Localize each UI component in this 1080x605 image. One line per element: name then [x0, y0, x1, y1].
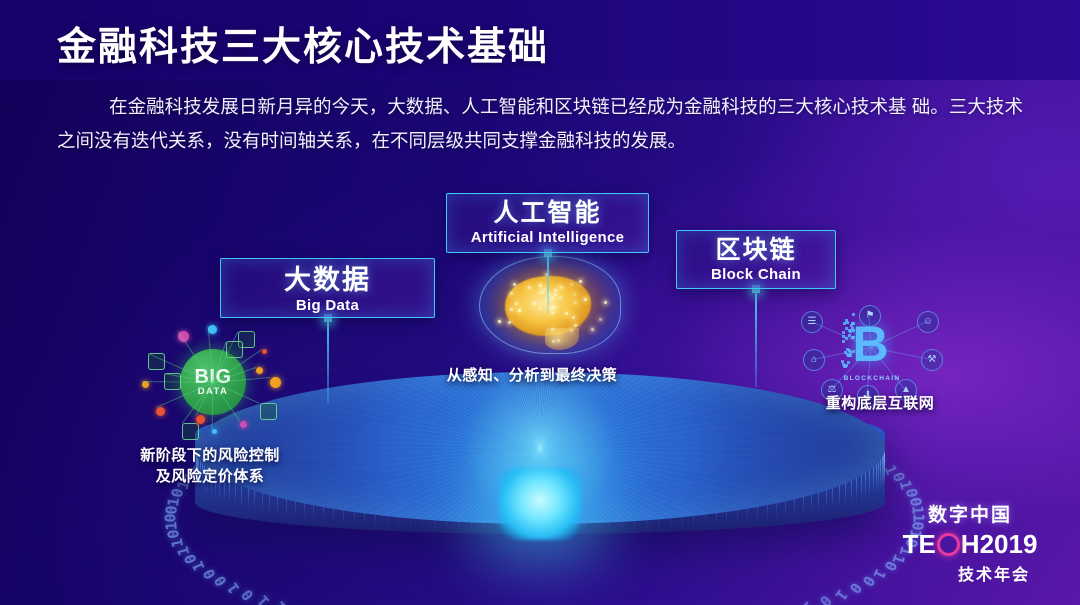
brain-synapse — [573, 293, 576, 296]
brain-synapse — [518, 309, 521, 312]
brain-synapse — [551, 311, 554, 314]
brain-synapse — [599, 318, 602, 321]
caption-ai: 从感知、分析到最终决策 — [427, 365, 637, 386]
blockchain-pixel — [846, 353, 849, 356]
card-ai[interactable]: 人工智能 Artificial Intelligence — [446, 193, 649, 253]
brain-synapse — [574, 324, 577, 327]
binary-digit: 0 — [238, 586, 258, 604]
blockchain-pixel — [845, 337, 848, 340]
bigdata-node-dot — [256, 367, 263, 374]
binary-digit: 0 — [845, 579, 865, 597]
brain-synapse — [559, 296, 562, 299]
blockchain-pixel — [846, 321, 849, 324]
blockchain-pixel — [842, 340, 845, 343]
blockchain-node-icon: ☺ — [917, 311, 939, 333]
brain-synapse — [604, 301, 607, 304]
blockchain-pixel — [841, 360, 844, 363]
footer-logo: 数字中国 TEH2019 技术年会 — [890, 500, 1050, 585]
brain-synapse — [570, 283, 573, 286]
binary-digit: 0 — [816, 592, 835, 605]
card-ai-title-en: Artificial Intelligence — [447, 229, 648, 246]
card-bigdata[interactable]: 大数据 Big Data — [220, 258, 435, 318]
platform-rib — [884, 452, 885, 482]
brain-synapse — [543, 288, 546, 291]
caption-blockchain: 重构底层互联网 — [790, 393, 970, 414]
binary-digit: 0 — [164, 529, 183, 540]
blockchain-pixel — [848, 329, 851, 332]
bigdata-node-icon — [182, 423, 199, 440]
bigdata-node-dot — [196, 415, 205, 424]
paragraph-line-1: 在金融科技发展日新月异的今天，大数据、人工智能和区块链已经成为金融科技的三大核心… — [109, 96, 907, 117]
caption-bigdata-line1: 新阶段下的风险控制 — [100, 445, 320, 466]
binary-digit: 1 — [870, 566, 890, 582]
card-blockchain-title-cn: 区块链 — [677, 237, 835, 263]
card-ai-title-cn: 人工智能 — [447, 200, 648, 226]
card-blockchain[interactable]: 区块链 Block Chain — [676, 230, 836, 289]
bigdata-node-dot — [208, 325, 217, 334]
blockchain-pixel — [845, 327, 848, 330]
footer-logo-left: TE — [903, 529, 936, 559]
caption-blockchain-line1: 重构底层互联网 — [790, 393, 970, 414]
platform-core-glow — [499, 468, 581, 540]
blockchain-pixel — [846, 348, 849, 351]
binary-digit: 0 — [162, 505, 181, 515]
caption-bigdata-line2: 及风险定价体系 — [100, 466, 320, 487]
blockchain-pixel — [852, 350, 855, 353]
binary-digit: 1 — [831, 586, 851, 604]
connector-blockchain — [755, 289, 757, 387]
binary-digit: 1 — [224, 579, 244, 597]
binary-digit: 1 — [173, 544, 193, 557]
connector-bigdata — [327, 318, 329, 404]
binary-digit: 0 — [162, 513, 180, 522]
caption-ai-line1: 从感知、分析到最终决策 — [427, 365, 637, 386]
binary-digit: 0 — [199, 566, 219, 582]
bigdata-node-icon — [260, 403, 277, 420]
binary-digit: 0 — [902, 487, 921, 499]
brain-synapse — [550, 298, 553, 301]
blockchain-pixel — [852, 313, 855, 316]
brain-synapse — [533, 302, 536, 305]
slide-root: 金融科技三大核心技术基础 在金融科技发展日新月异的今天，大数据、人工智能和区块链… — [0, 0, 1080, 605]
blockchain-pixel — [843, 365, 846, 368]
binary-digit: 1 — [896, 479, 916, 492]
binary-digit: 1 — [162, 521, 181, 531]
blockchain-node-icon: ⚒ — [921, 349, 943, 371]
brain-synapse — [584, 298, 587, 301]
binary-digit: 0 — [168, 487, 187, 499]
blockchain-pixel — [851, 336, 854, 339]
binary-digit: 1 — [168, 536, 187, 548]
blockchain-node-icon: ⌂ — [803, 349, 825, 371]
bigdata-node-dot — [156, 407, 165, 416]
brain-synapse — [539, 307, 542, 310]
bigdata-network-graphic: BIG DATA — [138, 323, 288, 441]
brain-synapse — [515, 302, 518, 305]
blockchain-graphic: B BLOCKCHAIN ☰⌂⚖⬇▲⚒☺⚑ — [795, 305, 947, 397]
bigdata-node-dot — [240, 421, 247, 428]
connector-ai — [547, 253, 549, 313]
brain-synapse — [565, 312, 568, 315]
brain-synapse — [554, 293, 557, 296]
bigdata-node-dot — [262, 349, 267, 354]
footer-logo-line3: 技术年会 — [890, 561, 1050, 585]
binary-digit: 0 — [858, 573, 878, 590]
binary-digit: 1 — [164, 496, 183, 507]
card-bigdata-title-cn: 大数据 — [221, 266, 434, 294]
footer-logo-wordmark: TEH2019 — [903, 529, 1038, 560]
binary-digit: 1 — [799, 598, 818, 605]
binary-digit: 1 — [270, 598, 289, 605]
caption-bigdata: 新阶段下的风险控制 及风险定价体系 — [100, 445, 320, 487]
footer-logo-line1: 数字中国 — [890, 500, 1050, 527]
card-blockchain-title-en: Block Chain — [677, 266, 835, 283]
binary-digit: 0 — [211, 573, 231, 590]
brain-graphic — [479, 252, 619, 356]
brain-synapse — [510, 292, 513, 295]
binary-digit: 1 — [254, 592, 273, 605]
blockchain-pixel — [842, 331, 845, 334]
binary-digit: 0 — [889, 470, 909, 484]
bigdata-node-dot — [212, 429, 217, 434]
logo-ring-icon — [937, 533, 960, 556]
brain-synapse — [541, 291, 544, 294]
platform-rib — [878, 459, 879, 492]
intro-paragraph: 在金融科技发展日新月异的今天，大数据、人工智能和区块链已经成为金融科技的三大核心… — [57, 90, 1023, 158]
brain-synapse — [552, 340, 555, 343]
page-title: 金融科技三大核心技术基础 — [57, 16, 549, 72]
blockchain-pixel — [851, 322, 854, 325]
blockchain-pixel — [847, 361, 850, 364]
footer-logo-right: H2019 — [961, 529, 1038, 559]
bigdata-node-icon — [226, 341, 243, 358]
card-bigdata-title-en: Big Data — [221, 297, 434, 314]
blockchain-pixel — [842, 335, 845, 338]
bigdata-node-dot — [270, 377, 281, 388]
blockchain-pixel — [852, 329, 855, 332]
brain-synapse — [498, 320, 501, 323]
